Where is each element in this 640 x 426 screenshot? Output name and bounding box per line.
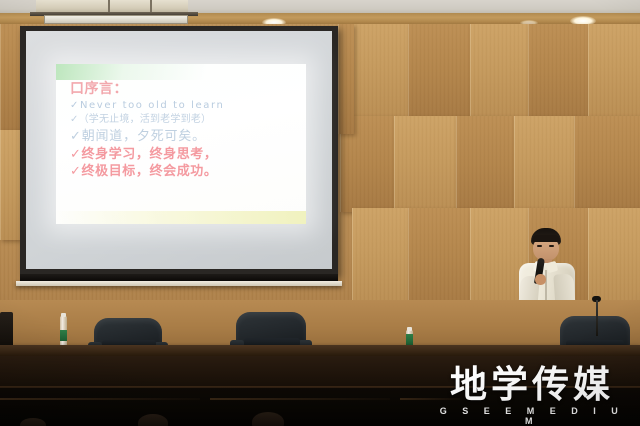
wall-panel — [0, 24, 20, 134]
bottle-cap — [61, 313, 66, 317]
speaker-eye-left — [537, 245, 542, 247]
fluorescent-panel — [44, 15, 188, 24]
wall-panel — [588, 208, 640, 308]
desk-microphone-stand — [596, 300, 598, 336]
projected-slide: 口序言： ✓Never too old to learn ✓（学无止境，活到老学… — [56, 64, 306, 224]
wall-panel — [352, 24, 408, 120]
wall-panel — [470, 24, 528, 120]
screen-weight-bar — [16, 281, 342, 286]
audience-head — [252, 412, 284, 426]
slide-yellow-highlight — [56, 211, 306, 224]
bottle-label — [60, 330, 67, 341]
screen-bottom-bar — [20, 274, 338, 281]
wall-panel — [352, 208, 408, 308]
slide-bullet-emphasis-2: ✓终极目标，终会成功。 — [70, 165, 298, 178]
wall-panel — [338, 24, 354, 134]
watermark: 地学传媒 G S E E M E D I U M — [434, 366, 630, 418]
water-bottle — [60, 316, 67, 346]
audience-head — [20, 418, 46, 426]
projection-screen: 口序言： ✓Never too old to learn ✓（学无止境，活到老学… — [20, 26, 338, 302]
screen-frame: 口序言： ✓Never too old to learn ✓（学无止境，活到老学… — [20, 26, 338, 276]
screen-surface: 口序言： ✓Never too old to learn ✓（学无止境，活到老学… — [26, 31, 332, 269]
wall-panel — [408, 208, 470, 308]
audience-head — [138, 414, 168, 426]
wall-panel — [574, 116, 640, 212]
watermark-english-text: G S E E M E D I U M — [434, 406, 630, 426]
slide-bullet-english: ✓Never too old to learn — [70, 101, 298, 111]
wall-panel — [588, 24, 640, 120]
seat-row-rail — [0, 398, 200, 400]
slide-green-highlight — [56, 64, 206, 80]
lecture-hall-photo: 口序言： ✓Never too old to learn ✓（学无止境，活到老学… — [0, 0, 640, 426]
slide-title: 口序言： — [70, 82, 298, 96]
watermark-chinese-text: 地学传媒 — [434, 366, 630, 405]
seat-row-rail — [210, 398, 390, 400]
slide-content: 口序言： ✓Never too old to learn ✓（学无止境，活到老学… — [70, 82, 298, 182]
bottle-cap — [407, 327, 412, 331]
speaker-fringe — [532, 235, 560, 242]
wall-panel — [528, 24, 588, 120]
slide-bullet-translation: ✓（学无止境，活到老学到老） — [70, 115, 298, 125]
speaker-hand-holding-mic — [535, 274, 546, 285]
bottle-label — [406, 334, 413, 345]
wall-panel — [408, 24, 470, 120]
wall-panel — [394, 116, 456, 212]
wall-panel — [514, 116, 574, 212]
speaker-eye-right — [549, 245, 554, 247]
slide-bullet-quote: ✓朝闻道，夕死可矣。 — [70, 130, 298, 143]
wall-panel — [0, 130, 20, 240]
slide-bullet-emphasis-1: ✓终身学习，终身思考， — [70, 148, 298, 161]
wall-panel — [456, 116, 514, 212]
